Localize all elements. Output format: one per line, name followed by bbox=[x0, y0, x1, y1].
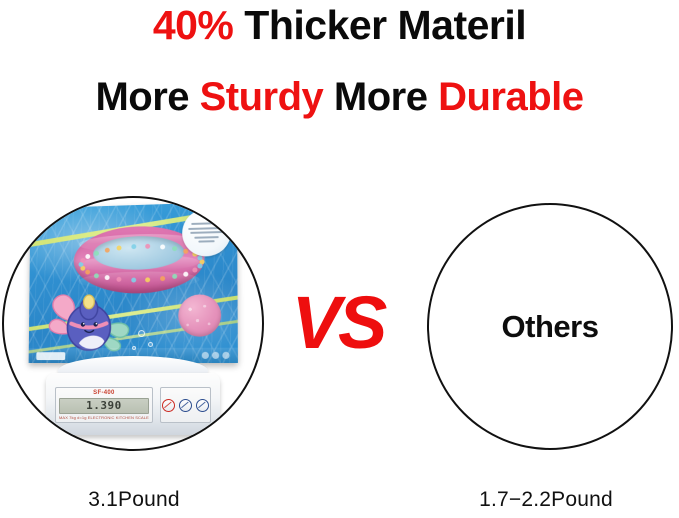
bubble-icon bbox=[138, 330, 145, 337]
scale-keypad bbox=[160, 387, 211, 423]
product-carton-icon bbox=[29, 202, 238, 363]
pool-motif-dot bbox=[94, 273, 99, 278]
scale-model-label: SF-400 bbox=[59, 390, 149, 397]
scale-lcd-screen: 1.390 bbox=[59, 398, 149, 414]
scale-key-power-button[interactable] bbox=[196, 399, 209, 412]
scale-key-tare-button[interactable] bbox=[162, 399, 175, 412]
product-photo: SF-400 1.390 MAX 7kg d=1g ELECTRONIC KIT… bbox=[4, 198, 264, 451]
pool-motif-dot bbox=[104, 275, 109, 280]
headline-line-1: 40% Thicker Materil bbox=[0, 2, 679, 48]
right-weight-caption: 1.7−2.2Pound bbox=[412, 487, 679, 513]
headline-line-2: More Sturdy More Durable bbox=[0, 74, 679, 120]
bubble-icon bbox=[148, 342, 153, 347]
headline-sturdy: Sturdy bbox=[200, 75, 324, 119]
pool-motif-dot bbox=[160, 276, 165, 281]
pool-motif-dot bbox=[94, 251, 99, 256]
kitchen-scale-icon: SF-400 1.390 MAX 7kg d=1g ELECTRONIC KIT… bbox=[46, 356, 220, 438]
carton-pink-swatch bbox=[178, 294, 221, 337]
headline-more-1: More bbox=[95, 75, 199, 119]
others-comparison-circle: Others bbox=[427, 203, 673, 450]
product-comparison-circle: SF-400 1.390 MAX 7kg d=1g ELECTRONIC KIT… bbox=[2, 196, 264, 451]
left-weight-caption: 3.1Pound bbox=[0, 487, 268, 513]
headline-durable: Durable bbox=[438, 75, 583, 119]
headline-line-1-text: Thicker Materil bbox=[233, 2, 526, 48]
versus-badge: VS bbox=[278, 284, 398, 362]
scale-key-unit-button[interactable] bbox=[179, 399, 192, 412]
scale-weight-reading: 1.390 bbox=[86, 400, 122, 412]
scale-body: SF-400 1.390 MAX 7kg d=1g ELECTRONIC KIT… bbox=[46, 373, 220, 435]
scale-front-panel: SF-400 1.390 MAX 7kg d=1g ELECTRONIC KIT… bbox=[55, 387, 211, 423]
carton-badge-lines bbox=[186, 215, 227, 250]
scale-fineprint: MAX 7kg d=1g ELECTRONIC KITCHEN SCALE bbox=[59, 415, 149, 420]
comparison-stage: SF-400 1.390 MAX 7kg d=1g ELECTRONIC KIT… bbox=[0, 160, 679, 518]
headline-percent-highlight: 40% bbox=[153, 2, 234, 48]
headline-more-2: More bbox=[323, 75, 438, 119]
others-label: Others bbox=[502, 309, 599, 345]
whale-character-icon bbox=[42, 282, 136, 356]
scale-display-module: SF-400 1.390 MAX 7kg d=1g ELECTRONIC KIT… bbox=[55, 387, 153, 423]
